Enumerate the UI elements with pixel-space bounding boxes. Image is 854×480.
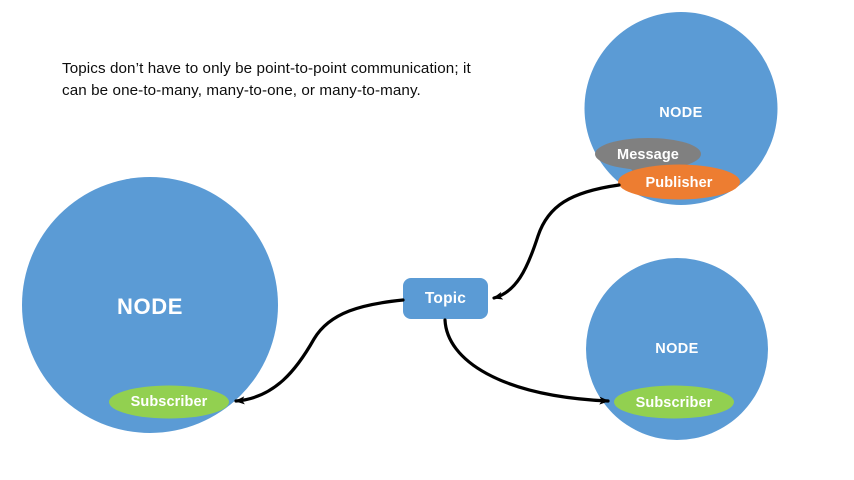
subscriber-ellipse-shape-left [109, 386, 229, 419]
slide-canvas: Topics don’t have to only be point-to-po… [0, 0, 854, 480]
connector-topic-to-bottom-right-subscriber [445, 320, 608, 401]
subscriber-ellipse-shape-bottom-right [614, 386, 734, 419]
connector-publisher-to-topic [494, 185, 619, 298]
publisher-ellipse-shape [618, 165, 740, 200]
topic-box-shape[interactable] [403, 278, 488, 319]
caption-text: Topics don’t have to only be point-to-po… [62, 58, 482, 102]
